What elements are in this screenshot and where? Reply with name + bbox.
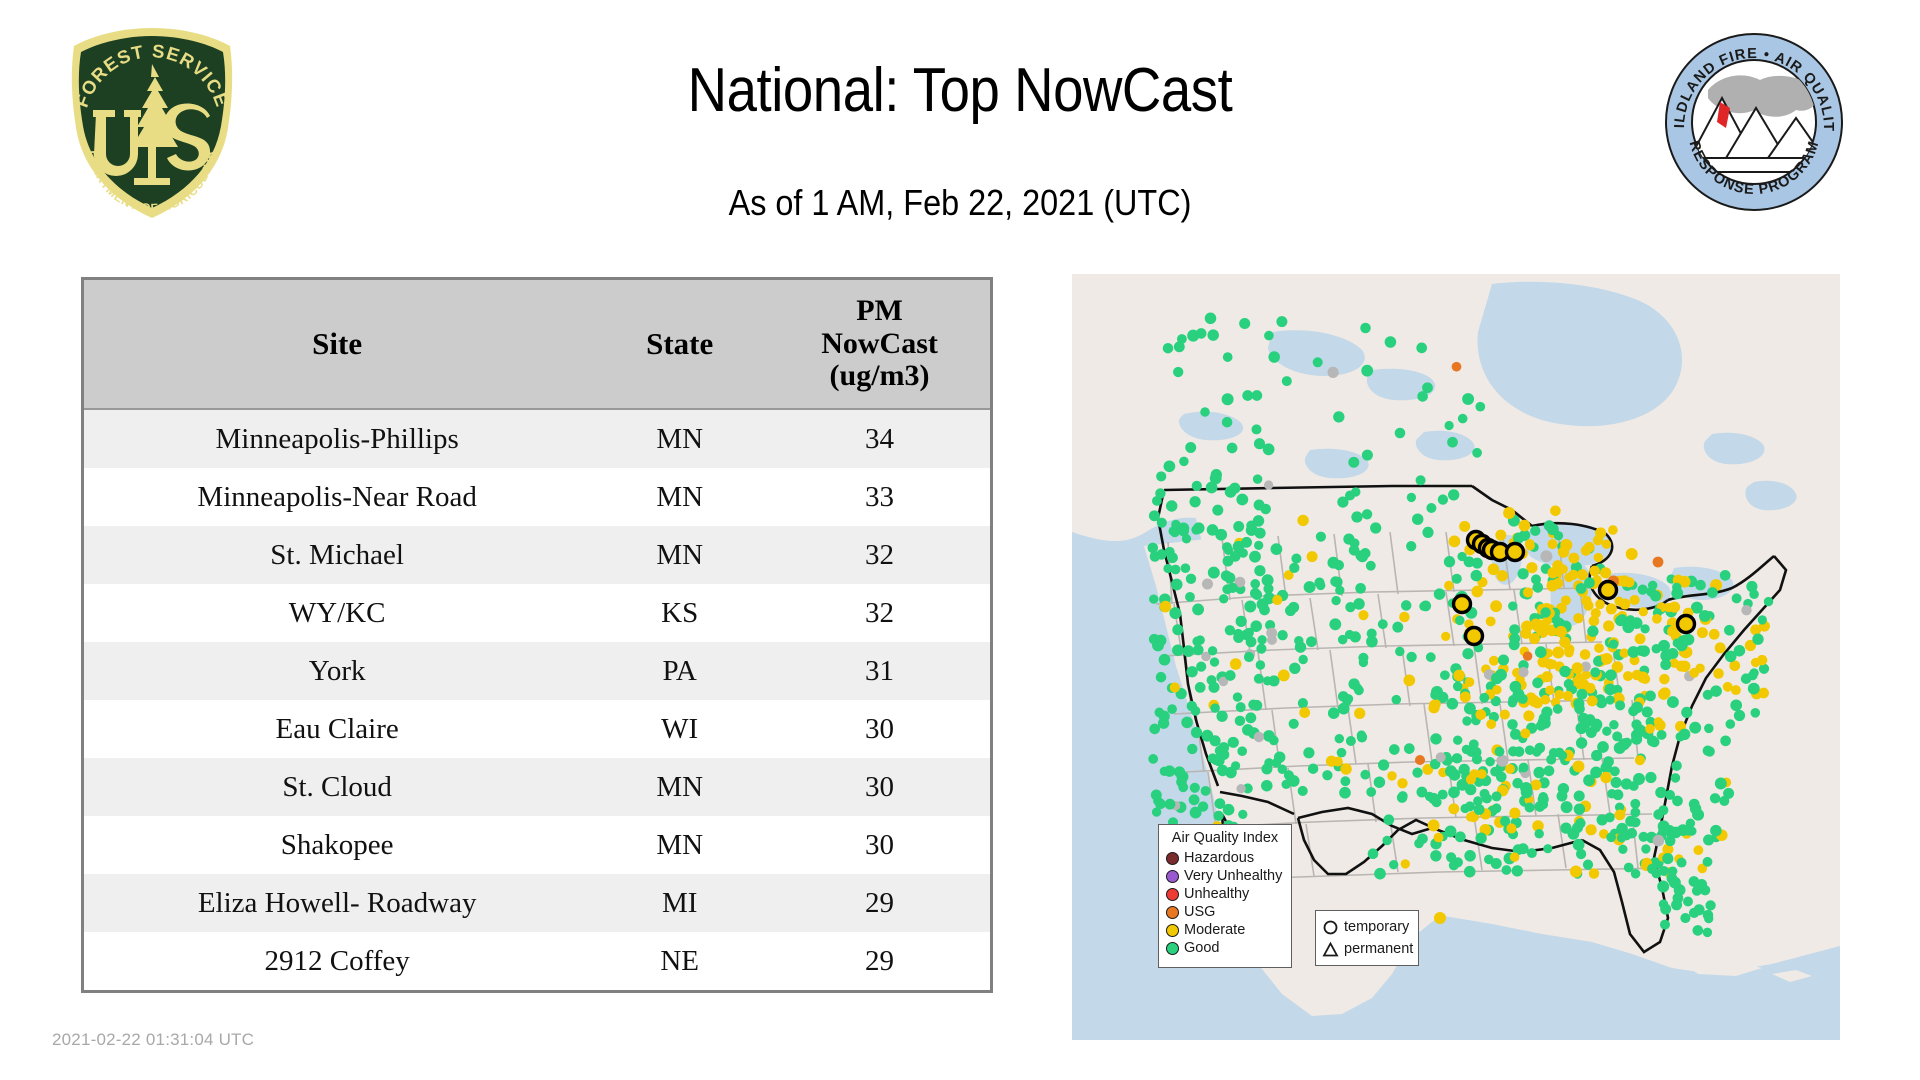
legend-row-temporary: temporary [1322, 916, 1412, 938]
monitor-dot [1289, 663, 1300, 674]
monitor-dot [1395, 647, 1404, 656]
monitor-dot [1561, 595, 1571, 605]
monitor-dot [1645, 724, 1655, 734]
monitor-dot [1602, 540, 1611, 549]
monitor-dot [1233, 632, 1244, 643]
monitor-dot [1553, 578, 1564, 589]
monitor-dot [1192, 637, 1202, 647]
circle-icon [1322, 919, 1339, 936]
cell-pm: 30 [769, 816, 991, 874]
monitor-dot [1359, 658, 1368, 667]
monitor-dot [1148, 754, 1158, 764]
monitor-dot [1576, 722, 1588, 734]
monitor-dot [1448, 489, 1459, 500]
monitor-dot [1428, 702, 1439, 713]
monitor-dot [1553, 704, 1563, 714]
monitor-dot [1244, 652, 1254, 662]
monitor-dot [1652, 614, 1662, 624]
monitor-dot [1207, 524, 1219, 536]
monitor-dot [1723, 682, 1733, 692]
column-header-pm-nowcast[interactable]: PM NowCast (ug/m3) [769, 279, 991, 410]
monitor-dot [1572, 822, 1583, 833]
monitor-dot [1169, 607, 1181, 619]
cell-site: St. Michael [83, 526, 591, 584]
monitor-dot [1256, 644, 1266, 654]
monitor-dot [1426, 652, 1436, 662]
monitor-dot [1366, 561, 1376, 571]
cell-site: Eliza Howell- Roadway [83, 874, 591, 932]
monitor-dot [1601, 653, 1613, 665]
monitor-dot [1252, 390, 1263, 401]
monitor-dot [1444, 421, 1453, 430]
monitor-dot [1378, 619, 1388, 629]
monitor-dot [1709, 629, 1720, 640]
monitor-dot [1389, 860, 1398, 869]
monitor-dot [1256, 660, 1266, 670]
monitor-dot [1514, 746, 1525, 757]
monitor-dot [1490, 600, 1502, 612]
monitor-dot [1606, 603, 1617, 614]
aqi-legend-label: Good [1184, 941, 1219, 956]
aqi-legend-title: Air Quality Index [1166, 830, 1284, 846]
monitor-dot [1333, 411, 1344, 422]
monitor-dot [1466, 812, 1475, 821]
monitor-dot [1699, 610, 1711, 622]
monitor-dot [1720, 570, 1731, 581]
monitor-dot [1492, 685, 1501, 694]
monitor-dot [1395, 428, 1406, 439]
monitor-dot [1406, 541, 1416, 551]
monitor-dot [1196, 328, 1207, 339]
monitor-dot [1383, 814, 1394, 825]
monitor-dot [1559, 666, 1570, 677]
monitor-dot [1508, 601, 1517, 610]
monitor-dot [1558, 564, 1568, 574]
monitor-dot [1580, 649, 1591, 660]
air-quality-index-legend: Air Quality Index HazardousVery Unhealth… [1158, 824, 1292, 968]
monitor-dot [1208, 567, 1220, 579]
monitor-dot [1535, 646, 1547, 658]
monitor-dot [1559, 637, 1570, 648]
monitor-dot [1536, 721, 1546, 731]
monitor-dot [1276, 316, 1287, 327]
table-row[interactable]: Minneapolis-PhillipsMN34 [83, 409, 992, 468]
monitor-dot [1748, 671, 1758, 681]
monitor-dot [1244, 601, 1256, 613]
monitor-dot [1662, 853, 1673, 864]
monitor-dot [1558, 546, 1569, 557]
monitor-dot [1609, 639, 1619, 649]
monitor-dot [1697, 627, 1708, 638]
monitor-dot [1541, 707, 1552, 718]
monitor-dot [1517, 568, 1528, 579]
monitor-dot [1246, 636, 1257, 647]
cell-site: 2912 Coffey [83, 932, 591, 992]
monitor-dot [1462, 716, 1471, 725]
cell-site: St. Cloud [83, 758, 591, 816]
monitor-dot [1406, 652, 1416, 662]
cell-site: Shakopee [83, 816, 591, 874]
monitor-dot [1224, 546, 1233, 555]
monitor-dot [1523, 587, 1533, 597]
table-row[interactable]: St. CloudMN30 [83, 758, 992, 816]
monitor-dot [1366, 787, 1376, 797]
monitor-dot [1426, 503, 1436, 513]
monitor-dot [1366, 636, 1378, 648]
monitor-dot [1491, 673, 1503, 685]
monitor-dot [1548, 539, 1558, 549]
monitor-dot [1512, 865, 1523, 876]
monitor-dot [1329, 618, 1341, 630]
triangle-icon [1322, 941, 1339, 958]
monitor-dot [1623, 671, 1633, 681]
monitor-dot [1606, 832, 1616, 842]
monitor-dot [1509, 639, 1520, 650]
monitor-dot [1430, 850, 1441, 861]
monitor-dot [1491, 858, 1502, 869]
cell-site: WY/KC [83, 584, 591, 642]
monitor-dot [1213, 811, 1223, 821]
monitor-dot [1261, 780, 1273, 792]
monitor-dot [1512, 778, 1523, 789]
monitor-dot [1657, 881, 1669, 893]
monitor-dot [1689, 876, 1700, 887]
monitor-dot [1704, 914, 1713, 923]
monitor-dot [1444, 581, 1453, 590]
monitor-dot [1507, 719, 1518, 730]
monitor-dot [1178, 526, 1189, 537]
monitor-dot [1544, 765, 1555, 776]
monitor-dot [1509, 624, 1520, 635]
monitor-dot [1344, 694, 1353, 703]
monitor-dot [1590, 767, 1602, 779]
monitor-dot [1490, 767, 1500, 777]
monitor-dot [1720, 735, 1731, 746]
monitor-dot [1653, 835, 1665, 847]
monitor-dot [1492, 803, 1502, 813]
monitor-dot [1669, 877, 1681, 889]
monitor-dot [1360, 770, 1370, 780]
cell-state: MN [590, 816, 769, 874]
monitor-dot [1185, 442, 1196, 453]
monitor-dot [1164, 765, 1176, 777]
top-site-marker[interactable] [1466, 628, 1483, 645]
monitor-dot [1630, 799, 1640, 809]
monitor-dot [1654, 717, 1663, 726]
monitor-dot [1670, 827, 1682, 839]
monitor-dot [1314, 577, 1324, 587]
monitor-dot [1748, 683, 1760, 695]
monitor-dot [1206, 482, 1218, 494]
monitor-dot [1419, 602, 1429, 612]
aqi-color-swatch-icon [1166, 906, 1179, 919]
monitor-dot [1495, 747, 1505, 757]
monitor-dot [1349, 545, 1360, 556]
monitor-dot [1171, 579, 1183, 591]
monitor-dot [1412, 767, 1422, 777]
monitor-dot [1715, 642, 1726, 653]
monitor-dot [1576, 849, 1586, 859]
monitor-dot [1677, 858, 1687, 868]
monitor-dot [1485, 757, 1494, 766]
monitor-dot [1257, 635, 1266, 644]
monitor-dot [1608, 525, 1618, 535]
monitor-dot [1648, 581, 1657, 590]
monitor-dot [1237, 746, 1247, 756]
monitor-dot [1192, 481, 1202, 491]
monitor-dot [1660, 659, 1671, 670]
monitor-dot [1233, 521, 1244, 532]
cell-pm: 29 [769, 932, 991, 992]
top-site-marker[interactable] [1600, 582, 1617, 599]
monitor-dot [1189, 496, 1200, 507]
monitor-dot [1730, 699, 1742, 711]
monitor-dot [1392, 695, 1402, 705]
table-row[interactable]: YorkPA31 [83, 642, 992, 700]
monitor-dot [1266, 628, 1277, 639]
top-site-marker[interactable] [1454, 596, 1471, 613]
monitor-dot [1671, 760, 1681, 770]
table-row[interactable]: Minneapolis-Near RoadMN33 [83, 468, 992, 526]
monitor-dot [1554, 748, 1564, 758]
monitor-dot [1660, 920, 1670, 930]
monitor-dot [1195, 682, 1206, 693]
monitor-dot [1707, 587, 1718, 598]
monitor-dot [1210, 657, 1219, 666]
monitor-dot [1455, 616, 1464, 625]
monitor-dot [1749, 589, 1759, 599]
table-row[interactable]: St. MichaelMN32 [83, 526, 992, 584]
monitor-dot [1471, 570, 1482, 581]
table-row[interactable]: WY/KCKS32 [83, 584, 992, 642]
monitor-dot [1229, 483, 1240, 494]
table-row[interactable]: Eliza Howell- RoadwayMI29 [83, 874, 992, 932]
monitor-dot [1448, 803, 1459, 814]
monitor-dot [1660, 904, 1671, 915]
monitor-dot [1205, 313, 1217, 325]
monitor-dot [1631, 817, 1641, 827]
monitor-dot [1520, 628, 1531, 639]
monitor-dot [1555, 626, 1567, 638]
cell-pm: 33 [769, 468, 991, 526]
monitor-dot [1440, 670, 1450, 680]
monitor-dot [1170, 682, 1180, 692]
monitor-dot [1538, 794, 1549, 805]
monitor-dot [1475, 833, 1486, 844]
monitor-dot [1334, 560, 1344, 570]
monitor-dot [1172, 624, 1183, 635]
monitor-dot [1263, 443, 1275, 455]
table-row[interactable]: ShakopeeMN30 [83, 816, 992, 874]
aqi-legend-row: Hazardous [1166, 849, 1284, 867]
page-subtitle: As of 1 AM, Feb 22, 2021 (UTC) [366, 182, 1554, 224]
monitor-dot [1307, 551, 1318, 562]
table-row[interactable]: Eau ClaireWI30 [83, 700, 992, 758]
monitor-dot [1282, 376, 1292, 386]
cell-state: NE [590, 932, 769, 992]
monitor-dot [1631, 869, 1641, 879]
monitor-dot [1462, 648, 1473, 659]
monitor-dot [1752, 634, 1763, 645]
monitor-dot [1486, 616, 1496, 626]
monitor-dot [1694, 904, 1705, 915]
monitor-dot [1236, 616, 1247, 627]
cell-state: MN [590, 526, 769, 584]
monitor-dot [1222, 417, 1233, 428]
monitor-dot [1681, 707, 1692, 718]
monitor-dot [1635, 633, 1646, 644]
monitor-dot [1597, 814, 1608, 825]
monitor-dot [1351, 511, 1362, 522]
monitor-dot [1759, 664, 1769, 674]
monitor-dot [1605, 695, 1614, 704]
monitor-dot [1149, 594, 1158, 603]
monitor-dot [1274, 751, 1285, 762]
monitor-dot [1185, 592, 1195, 602]
monitor-dot [1163, 343, 1174, 354]
monitor-dot [1164, 460, 1176, 472]
monitor-dot [1693, 845, 1703, 855]
monitor-dot [1428, 793, 1439, 804]
monitor-dot [1190, 783, 1200, 793]
cell-site: York [83, 642, 591, 700]
monitor-dot [1401, 859, 1410, 868]
monitor-dot [1231, 761, 1240, 770]
monitor-dot [1452, 753, 1462, 763]
monitor-dot [1586, 824, 1597, 835]
monitor-dot [1505, 764, 1515, 774]
monitor-dot [1612, 731, 1622, 741]
aqi-color-swatch-icon [1166, 942, 1179, 955]
monitor-dot [1172, 644, 1184, 656]
column-header-site[interactable]: Site [83, 279, 591, 410]
aqi-legend-label: Hazardous [1184, 851, 1254, 866]
monitor-dot [1285, 605, 1296, 616]
column-header-state[interactable]: State [590, 279, 769, 410]
monitor-dot [1465, 801, 1475, 811]
monitor-dot [1268, 675, 1279, 686]
cell-pm: 31 [769, 642, 991, 700]
monitor-dot [1337, 748, 1347, 758]
monitor-dot [1297, 515, 1308, 526]
cell-site: Eau Claire [83, 700, 591, 758]
aqi-legend-row: USG [1166, 903, 1284, 921]
monitor-dot [1595, 527, 1606, 538]
monitor-dot [1554, 690, 1564, 700]
monitor-dot [1622, 831, 1632, 841]
top-site-marker[interactable] [1507, 544, 1524, 561]
legend-row-permanent: permanent [1322, 938, 1412, 960]
monitor-dot [1167, 704, 1177, 714]
monitor-dot [1222, 393, 1234, 405]
monitor-dot [1552, 647, 1564, 659]
monitor-dot [1298, 786, 1308, 796]
monitor-dot [1637, 671, 1649, 683]
cell-state: MN [590, 758, 769, 816]
monitor-dot [1658, 820, 1670, 832]
monitor-dot [1227, 443, 1238, 454]
monitor-dot [1163, 564, 1172, 573]
monitor-dot [1374, 868, 1386, 880]
monitor-dot [1446, 698, 1458, 710]
monitor-dot [1448, 786, 1460, 798]
monitor-dot [1407, 493, 1416, 502]
monitor-dot [1412, 513, 1423, 524]
monitor-dot [1389, 744, 1400, 755]
monitor-dot [1563, 691, 1573, 701]
monitor-dot [1452, 574, 1462, 584]
monitor-dot [1611, 777, 1622, 788]
cell-state: KS [590, 584, 769, 642]
monitor-dot [1655, 787, 1666, 798]
monitor-dot [1664, 603, 1673, 612]
top-site-marker[interactable] [1678, 616, 1695, 633]
monitor-dot [1251, 700, 1262, 711]
monitor-dot [1269, 736, 1279, 746]
monitor-dot [1531, 779, 1542, 790]
monitor-dot [1518, 843, 1529, 854]
monitor-dot [1327, 367, 1338, 378]
monitor-dot [1506, 823, 1516, 833]
monitor-dot [1576, 737, 1587, 748]
monitor-dot [1254, 732, 1264, 742]
monitor-dot [1534, 829, 1543, 838]
monitor-dot [1638, 584, 1648, 594]
monitor-dot [1294, 636, 1303, 645]
monitor-dot [1264, 331, 1274, 341]
page-title: National: Top NowCast [379, 58, 1541, 123]
monitor-dot [1308, 763, 1318, 773]
monitor-dot [1340, 763, 1351, 774]
monitor-dot [1690, 803, 1701, 814]
monitor-dot [1587, 626, 1598, 637]
monitor-dot [1338, 635, 1348, 645]
monitor-dot [1630, 807, 1640, 817]
monitor-dot [1149, 510, 1160, 521]
table-row[interactable]: 2912 CoffeyNE29 [83, 932, 992, 992]
monitor-dot [1703, 834, 1714, 845]
monitor-dot [1568, 570, 1578, 580]
cell-site: Minneapolis-Near Road [83, 468, 591, 526]
monitor-dot [1159, 654, 1171, 666]
monitor-dot [1192, 603, 1204, 615]
table-header-row: Site State PM NowCast (ug/m3) [83, 279, 992, 410]
aqi-color-swatch-icon [1166, 888, 1179, 901]
monitor-dot [1581, 596, 1591, 606]
monitor-dot [1434, 833, 1444, 843]
monitor-dot [1496, 755, 1508, 767]
monitor-dot [1491, 791, 1501, 801]
monitor-dot [1488, 563, 1500, 575]
monitor-dot [1527, 848, 1537, 858]
monitor-dot [1574, 804, 1585, 815]
monitor-dot [1155, 799, 1166, 810]
monitor-dot [1758, 615, 1767, 624]
monitor-dot [1610, 766, 1620, 776]
monitor-dot [1212, 505, 1223, 516]
monitor-dot [1475, 402, 1485, 412]
aqi-legend-row: Very Unhealthy [1166, 867, 1284, 885]
monitor-dot [1619, 598, 1630, 609]
pm-header-line-3: (ug/m3) [769, 360, 990, 392]
cell-pm: 30 [769, 758, 991, 816]
monitor-dot [1392, 622, 1403, 633]
monitor-dot [1600, 567, 1611, 578]
monitor-dot [1306, 636, 1317, 647]
monitor-dot [1757, 655, 1768, 666]
monitor-dot [1345, 490, 1355, 500]
monitor-dot [1361, 365, 1373, 377]
